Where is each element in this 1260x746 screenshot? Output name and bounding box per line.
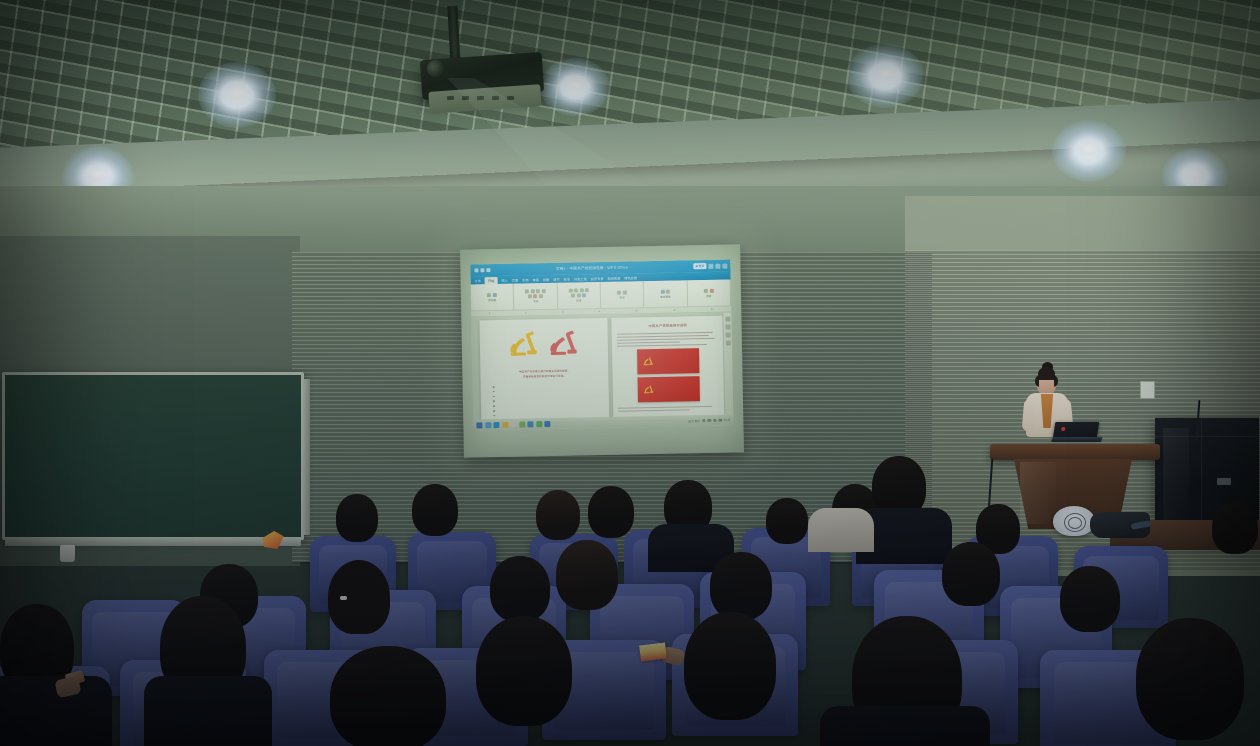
group-label: 剪贴板 bbox=[488, 298, 496, 302]
office-icon[interactable] bbox=[527, 421, 533, 427]
restore-icon[interactable] bbox=[715, 263, 720, 268]
battery-icon[interactable] bbox=[713, 419, 717, 423]
ruler-mark: 6 bbox=[562, 311, 563, 314]
laptop-base bbox=[1051, 437, 1103, 442]
audience-shoulders bbox=[144, 676, 272, 746]
chat-icon[interactable] bbox=[536, 421, 542, 427]
tab-resources[interactable]: 稻壳资源 bbox=[607, 275, 620, 280]
tab-reference[interactable]: 引用 bbox=[522, 277, 528, 282]
doc-icon[interactable] bbox=[544, 421, 550, 427]
projector-vent bbox=[462, 96, 469, 100]
audience-head bbox=[1060, 566, 1120, 632]
ribbon-group-select[interactable]: 选择 bbox=[687, 280, 731, 307]
projector-vent bbox=[507, 96, 514, 100]
tab-view[interactable]: 视图 bbox=[543, 277, 549, 282]
tab-apps[interactable]: 特色应用 bbox=[624, 275, 637, 280]
panel-icon[interactable] bbox=[725, 333, 730, 338]
emblem-caption: 中国共产党党徽为镰刀和锤头组成的图案。 党徽制版要求和颜色标准另行规定。 bbox=[480, 368, 609, 379]
booklet bbox=[639, 642, 667, 661]
party-emblem-red-icon bbox=[547, 329, 582, 360]
blackboard-frame-right bbox=[301, 379, 310, 535]
tab-developer[interactable]: 开发工具 bbox=[574, 276, 587, 281]
audience-head bbox=[766, 498, 808, 544]
screen-surface: 文档1 - 中国共产党党旗党徽 - WPS Office 未登录 文件 开始 插… bbox=[460, 244, 744, 457]
tab-file[interactable]: 文件 bbox=[475, 278, 481, 283]
group-label: 字体 bbox=[533, 299, 538, 303]
window-title: 文档1 - 中国共产党党旗党徽 - WPS Office bbox=[490, 264, 693, 273]
ruler-mark: 4 bbox=[525, 311, 526, 314]
bullet-point bbox=[493, 405, 495, 407]
login-button[interactable]: 未登录 bbox=[693, 263, 706, 269]
flag-emblem-icon bbox=[642, 356, 654, 367]
clock-label: 14:32 bbox=[724, 419, 731, 422]
projector-vent bbox=[477, 96, 484, 100]
ribbon-group-paragraph[interactable]: 段落 bbox=[557, 282, 601, 309]
right-side-panel[interactable] bbox=[722, 313, 733, 419]
audience-head bbox=[556, 540, 618, 610]
ribbon-group-find-replace[interactable]: 查找替换 bbox=[644, 280, 688, 307]
group-label: 样式 bbox=[619, 295, 624, 299]
bullet-point bbox=[493, 386, 495, 388]
group-label: 查找替换 bbox=[660, 294, 670, 298]
wall-socket bbox=[1140, 381, 1155, 399]
ruler-mark: 10 bbox=[635, 309, 638, 312]
tab-home[interactable]: 开始 bbox=[485, 276, 498, 283]
audience-shoulders bbox=[808, 508, 874, 552]
audience-head bbox=[942, 542, 1000, 606]
ruler-mark: 2 bbox=[489, 312, 490, 315]
cup bbox=[60, 545, 75, 562]
audience-head bbox=[490, 556, 550, 622]
audience-head bbox=[684, 612, 776, 720]
document-canvas[interactable]: 中国共产党党徽为镰刀和锤头组成的图案。 党徽制版要求和颜色标准另行规定。 bbox=[471, 313, 733, 424]
audience-head bbox=[710, 552, 772, 620]
audience-head bbox=[476, 616, 572, 726]
audience-head bbox=[336, 494, 378, 542]
panel-icon[interactable] bbox=[725, 341, 730, 346]
chalk-rail bbox=[5, 537, 301, 546]
search-icon[interactable] bbox=[485, 422, 491, 428]
tab-review[interactable]: 审阅 bbox=[532, 277, 538, 282]
bullet-point bbox=[493, 400, 495, 402]
weather-label: 28°C 多云 bbox=[688, 419, 700, 423]
projector-vent bbox=[492, 96, 499, 100]
bullet-point bbox=[493, 396, 495, 398]
network-icon[interactable] bbox=[702, 419, 706, 423]
flag-emblem-icon bbox=[643, 384, 655, 395]
lecture-hall-photo: 文档1 - 中国共产党党旗党徽 - WPS Office 未登录 文件 开始 插… bbox=[0, 0, 1260, 746]
quick-access-toolbar[interactable] bbox=[474, 268, 490, 272]
browser-icon[interactable] bbox=[493, 421, 499, 427]
laptop-logo-icon bbox=[1061, 427, 1066, 431]
window-controls[interactable]: 未登录 bbox=[693, 263, 727, 270]
party-emblem-yellow-icon bbox=[507, 330, 542, 361]
projection-screen: 文档1 - 中国共产党党旗党徽 - WPS Office 未登录 文件 开始 插… bbox=[460, 244, 744, 457]
undo-icon[interactable] bbox=[480, 268, 484, 272]
paragraph-block bbox=[612, 327, 724, 347]
hair-tie bbox=[340, 596, 347, 600]
white-cap bbox=[1053, 506, 1095, 536]
rack-indicator bbox=[1217, 478, 1231, 485]
document-page-right[interactable]: 中国共产党党旗制作说明 bbox=[612, 316, 726, 421]
panel-icon[interactable] bbox=[725, 325, 730, 330]
ruler-mark: 12 bbox=[673, 309, 676, 312]
media-icon[interactable] bbox=[519, 421, 525, 427]
group-label: 段落 bbox=[576, 298, 581, 302]
party-flag-2 bbox=[638, 376, 700, 402]
tab-section[interactable]: 章节 bbox=[553, 276, 559, 281]
office-window: 文档1 - 中国共产党党旗党徽 - WPS Office 未登录 文件 开始 插… bbox=[470, 260, 733, 431]
podium-top bbox=[990, 444, 1160, 460]
tab-page[interactable]: 页面 bbox=[512, 277, 518, 282]
audience-head bbox=[1136, 618, 1244, 740]
audience-shoulders bbox=[820, 706, 990, 746]
party-flag-1 bbox=[637, 348, 699, 374]
group-label: 选择 bbox=[706, 293, 711, 297]
audience-ponytail bbox=[328, 560, 390, 634]
start-icon[interactable] bbox=[476, 422, 482, 428]
audience-head bbox=[412, 484, 458, 536]
footer-block bbox=[613, 401, 725, 412]
ribbon-group-font[interactable]: 字体 bbox=[514, 283, 558, 310]
ruler-mark: 14 bbox=[711, 308, 714, 311]
close-icon[interactable] bbox=[722, 263, 727, 268]
tab-member[interactable]: 会员专享 bbox=[591, 275, 604, 280]
bullet-point bbox=[493, 415, 495, 417]
folder-icon[interactable] bbox=[502, 421, 508, 427]
volume-icon[interactable] bbox=[707, 419, 711, 423]
notification-icon[interactable] bbox=[718, 418, 722, 422]
ribbon-group-clipboard[interactable]: 剪贴板 bbox=[471, 284, 515, 311]
tab-insert[interactable]: 插入 bbox=[501, 277, 507, 282]
projector-vent bbox=[447, 96, 454, 100]
panel-icon[interactable] bbox=[725, 317, 730, 322]
rack-seam bbox=[1155, 436, 1259, 437]
bullet-point bbox=[493, 391, 495, 393]
laptop bbox=[1052, 422, 1102, 444]
ruler-mark: 8 bbox=[599, 310, 600, 313]
ribbon-group-styles[interactable]: 样式 bbox=[601, 281, 645, 308]
blackboard bbox=[2, 372, 304, 540]
bullet-point bbox=[493, 410, 495, 412]
minimize-icon[interactable] bbox=[708, 263, 713, 268]
bullet-list bbox=[481, 384, 610, 417]
audience-head bbox=[1212, 502, 1258, 554]
document-page-left[interactable]: 中国共产党党徽为镰刀和锤头组成的图案。 党徽制版要求和颜色标准另行规定。 bbox=[479, 318, 609, 423]
save-icon[interactable] bbox=[474, 268, 478, 272]
audience-head bbox=[588, 486, 634, 538]
system-tray[interactable]: 28°C 多云 14:32 bbox=[688, 418, 730, 423]
audience-head bbox=[330, 646, 446, 746]
audience-head bbox=[536, 490, 580, 540]
mail-icon[interactable] bbox=[510, 421, 516, 427]
tab-security[interactable]: 安全 bbox=[564, 276, 570, 281]
emblem-row bbox=[479, 318, 608, 361]
